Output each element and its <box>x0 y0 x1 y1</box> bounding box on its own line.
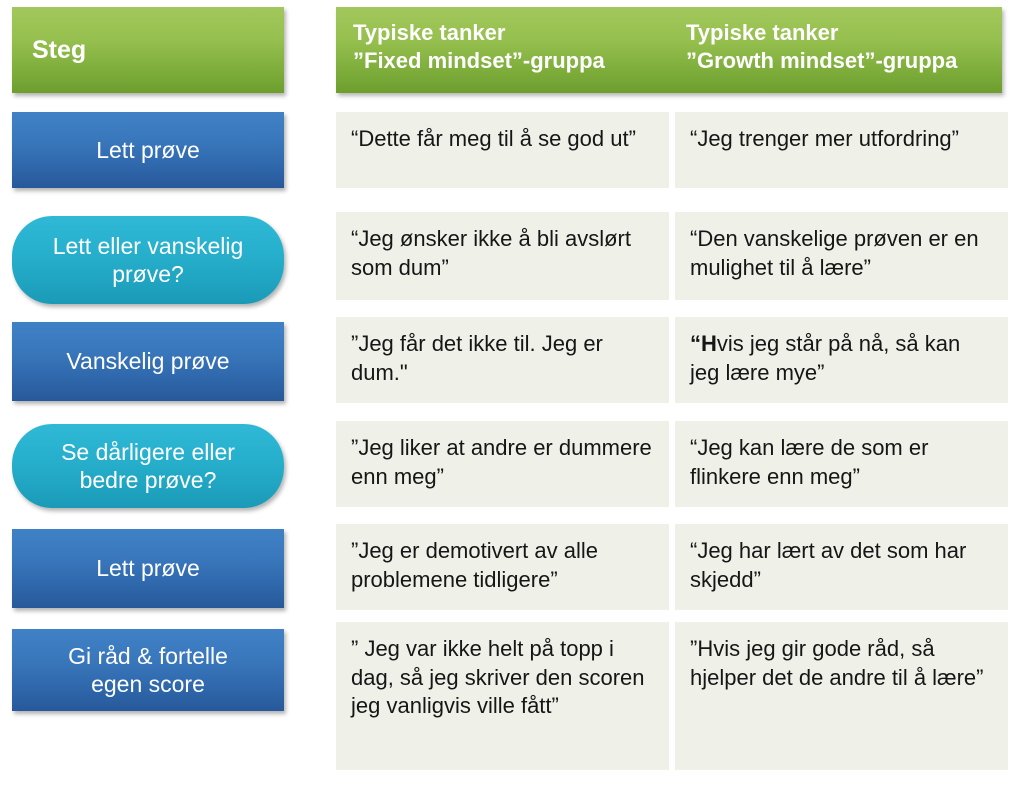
fixed-mindset-cell: ” Jeg var ikke helt på topp i dag, så je… <box>336 622 669 770</box>
growth-mindset-cell: “Jeg trenger mer utfordring” <box>675 112 1008 188</box>
growth-mindset-cell: ”Hvis jeg gir gode råd, så hjelper det d… <box>675 622 1008 770</box>
table-row: “Jeg ønsker ikke å bli avslørt som dum” … <box>336 212 1008 300</box>
step-shape-label: Vanskelig prøve <box>66 347 229 375</box>
step-shape-label: Se dårligere eller bedre prøve? <box>61 438 235 494</box>
step-column-header: Steg <box>12 7 284 93</box>
step-shape-lett-prove-2[interactable]: Lett prøve <box>12 529 284 608</box>
fixed-mindset-cell: “Jeg ønsker ikke å bli avslørt som dum” <box>336 212 669 300</box>
growth-mindset-cell: “Hvis jeg står på nå, så kan jeg lære my… <box>675 317 1008 403</box>
table-row: ” Jeg var ikke helt på topp i dag, så je… <box>336 622 1008 770</box>
step-column-header-label: Steg <box>32 35 86 66</box>
steps-column: Steg Lett prøve Lett eller vanskelig prø… <box>0 0 330 789</box>
fixed-mindset-cell: ”Jeg får det ikke til. Jeg er dum." <box>336 317 669 403</box>
growth-mindset-column-header: Typiske tanker ”Growth mindset”-gruppa <box>669 7 1002 93</box>
growth-mindset-cell: “Jeg kan lære de som er flinkere enn meg… <box>675 421 1008 507</box>
quotes-table: Typiske tanker ”Fixed mindset”-gruppa Ty… <box>336 0 1008 789</box>
table-header-row: Typiske tanker ”Fixed mindset”-gruppa Ty… <box>336 7 1002 93</box>
fixed-mindset-column-header: Typiske tanker ”Fixed mindset”-gruppa <box>336 7 669 93</box>
table-row: ”Jeg liker at andre er dummere enn meg” … <box>336 421 1008 507</box>
table-row: ”Jeg får det ikke til. Jeg er dum." “Hvi… <box>336 317 1008 403</box>
step-shape-gi-rad-fortelle[interactable]: Gi råd & fortelle egen score <box>12 629 284 711</box>
step-shape-lett-prove-1[interactable]: Lett prøve <box>12 112 284 188</box>
fixed-mindset-cell: ”Jeg er demotivert av alle problemene ti… <box>336 524 669 610</box>
step-shape-label: Gi råd & fortelle egen score <box>68 642 228 698</box>
step-shape-se-darligere-bedre[interactable]: Se dårligere eller bedre prøve? <box>12 424 284 508</box>
slide-root: Steg Lett prøve Lett eller vanskelig prø… <box>0 0 1024 789</box>
fixed-mindset-cell: “Dette får meg til å se god ut” <box>336 112 669 188</box>
growth-mindset-cell: “Den vanskelige prøven er en mulighet ti… <box>675 212 1008 300</box>
step-shape-label: Lett prøve <box>96 554 200 582</box>
table-row: ”Jeg er demotivert av alle problemene ti… <box>336 524 1008 610</box>
fixed-mindset-cell: ”Jeg liker at andre er dummere enn meg” <box>336 421 669 507</box>
step-shape-label: Lett prøve <box>96 136 200 164</box>
step-shape-lett-eller-vanskelig[interactable]: Lett eller vanskelig prøve? <box>12 216 284 304</box>
growth-mindset-cell: “Jeg har lært av det som har skjedd” <box>675 524 1008 610</box>
step-shape-label: Lett eller vanskelig prøve? <box>53 232 244 288</box>
step-shape-vanskelig-prove[interactable]: Vanskelig prøve <box>12 322 284 401</box>
table-row: “Dette får meg til å se god ut” “Jeg tre… <box>336 112 1008 188</box>
